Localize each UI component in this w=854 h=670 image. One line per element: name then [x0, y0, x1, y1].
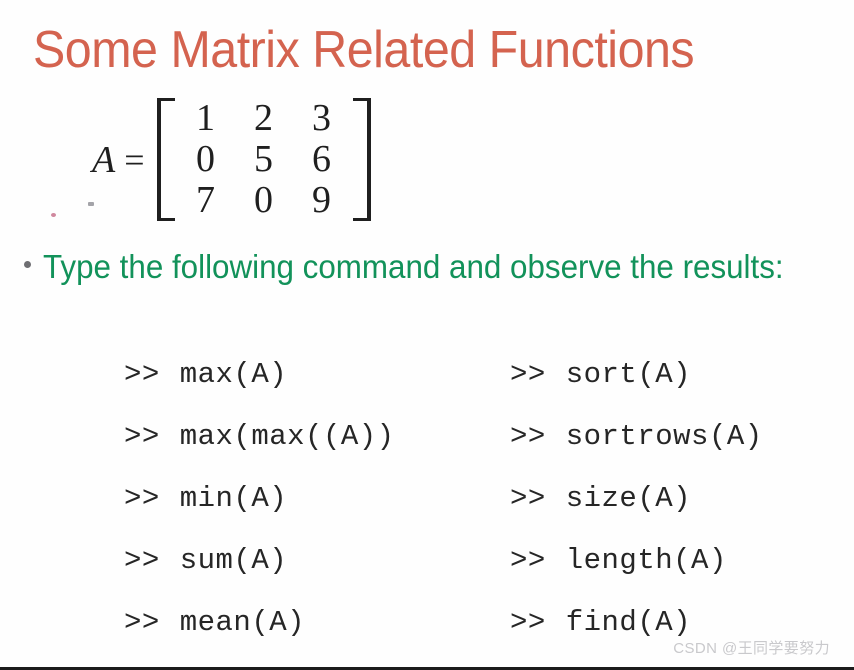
prompt-symbol: >> [510, 544, 546, 577]
scan-artifact-speck [51, 213, 56, 217]
command-list: >> max(A) >> max(max((A)) >> min(A) >> s… [0, 344, 854, 654]
matrix-variable-label: A [92, 141, 124, 179]
matrix-equation: A = 1 2 3 0 5 6 7 0 9 [92, 96, 371, 223]
prompt-symbol: >> [510, 358, 546, 391]
command-text: sortrows(A) [566, 420, 763, 453]
bullet-paragraph: Type the following command and observe t… [24, 244, 824, 289]
matrix-cell: 3 [293, 98, 351, 139]
command-text: size(A) [566, 482, 691, 515]
bullet-dot-icon [24, 261, 31, 268]
matrix-cell: 6 [293, 139, 351, 180]
command-line: >> sortrows(A) [510, 406, 850, 468]
prompt-symbol: >> [124, 358, 160, 391]
page-title: Some Matrix Related Functions [33, 19, 694, 81]
matrix-cell: 9 [293, 180, 351, 221]
matrix-cell: 2 [235, 98, 293, 139]
watermark: CSDN @王同学要努力 [673, 640, 830, 658]
command-column-left: >> max(A) >> max(max((A)) >> min(A) >> s… [124, 344, 510, 654]
equals-sign: = [124, 142, 156, 178]
command-text: length(A) [566, 544, 727, 577]
prompt-symbol: >> [124, 544, 160, 577]
matrix-cell: 0 [177, 139, 235, 180]
command-line: >> sort(A) [510, 344, 850, 406]
matrix-cell: 7 [177, 180, 235, 221]
prompt-symbol: >> [124, 606, 160, 639]
right-bracket-icon [353, 98, 371, 221]
bullet-text: Type the following command and observe t… [43, 244, 784, 289]
command-text: max(max((A)) [180, 420, 395, 453]
command-line: >> mean(A) [124, 592, 510, 654]
scan-artifact-speck [88, 202, 94, 206]
command-text: sort(A) [566, 358, 691, 391]
command-text: min(A) [180, 482, 287, 515]
prompt-symbol: >> [510, 606, 546, 639]
command-line: >> max(max((A)) [124, 406, 510, 468]
command-text: find(A) [566, 606, 691, 639]
command-text: sum(A) [180, 544, 287, 577]
command-text: mean(A) [180, 606, 305, 639]
command-column-right: >> sort(A) >> sortrows(A) >> size(A) >> … [510, 344, 850, 654]
matrix-cell: 1 [177, 98, 235, 139]
prompt-symbol: >> [510, 482, 546, 515]
command-text: max(A) [180, 358, 287, 391]
command-line: >> max(A) [124, 344, 510, 406]
matrix-body: 1 2 3 0 5 6 7 0 9 [157, 96, 371, 223]
matrix-grid: 1 2 3 0 5 6 7 0 9 [175, 98, 353, 221]
matrix-cell: 5 [235, 139, 293, 180]
left-bracket-icon [157, 98, 175, 221]
matrix-cell: 0 [235, 180, 293, 221]
command-line: >> min(A) [124, 468, 510, 530]
prompt-symbol: >> [124, 420, 160, 453]
command-line: >> length(A) [510, 530, 850, 592]
command-line: >> size(A) [510, 468, 850, 530]
prompt-symbol: >> [510, 420, 546, 453]
slide-canvas: Some Matrix Related Functions A = 1 2 3 … [0, 0, 854, 670]
prompt-symbol: >> [124, 482, 160, 515]
command-line: >> sum(A) [124, 530, 510, 592]
